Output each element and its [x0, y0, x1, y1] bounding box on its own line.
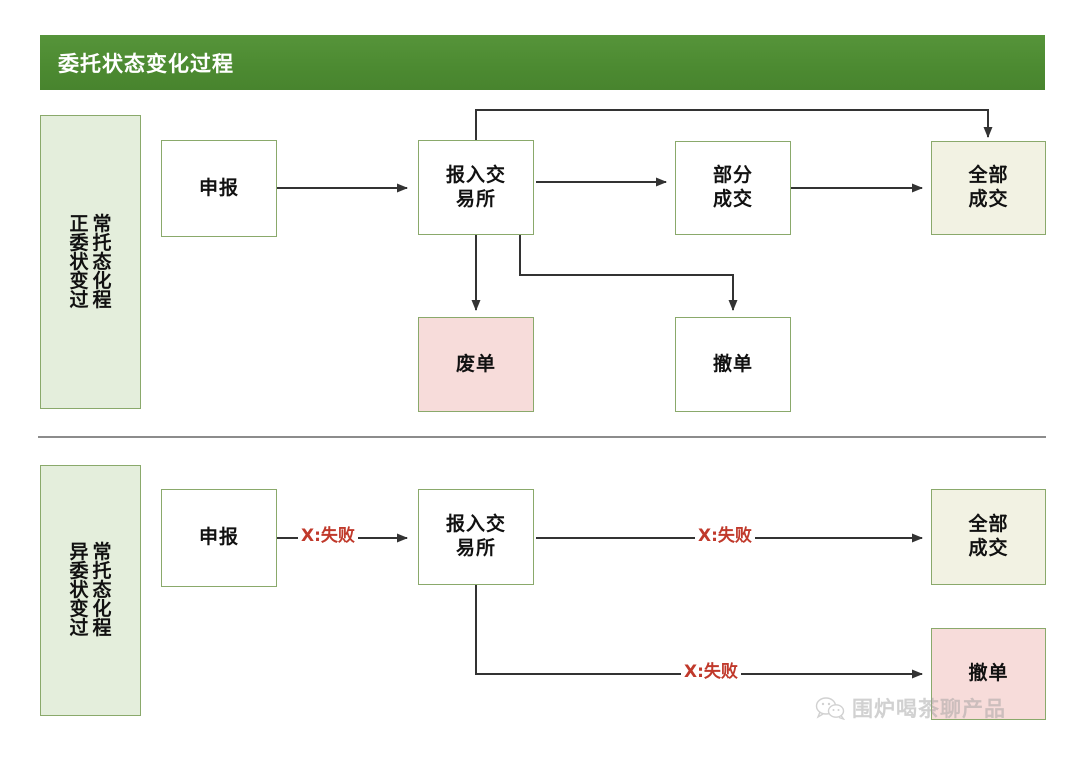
node-label: 废单 [456, 353, 496, 377]
watermark: 围炉喝茶聊产品 [815, 693, 1006, 723]
side-label-line: 正常 [65, 215, 115, 234]
node-label: 部分 [713, 164, 753, 188]
node-label: 易所 [456, 188, 496, 212]
diagram-canvas: 委托状态变化过程 正常 委托 状态 变化 过程 [0, 0, 1080, 758]
node-label: 撤单 [968, 662, 1008, 686]
wechat-icon [815, 696, 845, 720]
side-label-line: 状态 [65, 253, 115, 272]
node-label: 全部 [968, 513, 1008, 537]
edge-exchange-to-full [476, 110, 988, 141]
side-label-line: 变化 [65, 272, 115, 291]
node-label: 成交 [713, 188, 753, 212]
node-void-order[interactable]: 废单 [418, 317, 534, 412]
node-exchange[interactable]: 报入交 易所 [418, 140, 534, 235]
watermark-text: 围炉喝茶聊产品 [852, 693, 1006, 723]
page-title: 委托状态变化过程 [58, 48, 234, 78]
node-cancel-order[interactable]: 撤单 [675, 317, 791, 412]
edge-label-fail-2: X:失败 [695, 528, 755, 545]
node-label: 撤单 [713, 353, 753, 377]
side-label-abnormal: 异常 委托 状态 变化 过程 [40, 465, 141, 716]
node-label: 成交 [968, 188, 1008, 212]
connector-layer [0, 0, 1080, 758]
node-label: 全部 [968, 164, 1008, 188]
node-label: 申报 [199, 526, 239, 550]
edge-exchange2-to-cancel2 [476, 585, 922, 674]
node-exchange-abnormal[interactable]: 报入交 易所 [418, 489, 534, 585]
node-label: 报入交 [446, 513, 506, 537]
side-label-line: 委托 [65, 234, 115, 253]
section-divider [38, 436, 1046, 438]
edge-exchange-to-cancel [520, 234, 733, 310]
title-banner: 委托状态变化过程 [40, 35, 1045, 90]
node-label: 申报 [199, 177, 239, 201]
node-label: 成交 [968, 537, 1008, 561]
node-declare[interactable]: 申报 [161, 140, 277, 237]
node-label: 易所 [456, 537, 496, 561]
side-label-line: 过程 [65, 619, 115, 638]
side-label-normal: 正常 委托 状态 变化 过程 [40, 115, 141, 409]
edge-label-fail-3: X:失败 [681, 664, 741, 681]
edge-label-fail-1: X:失败 [298, 528, 358, 545]
node-label: 报入交 [446, 164, 506, 188]
node-full-fill[interactable]: 全部 成交 [931, 141, 1046, 235]
side-label-line: 过程 [65, 291, 115, 310]
node-full-fill-abnormal[interactable]: 全部 成交 [931, 489, 1046, 585]
node-declare-abnormal[interactable]: 申报 [161, 489, 277, 587]
node-partial-fill[interactable]: 部分 成交 [675, 141, 791, 235]
